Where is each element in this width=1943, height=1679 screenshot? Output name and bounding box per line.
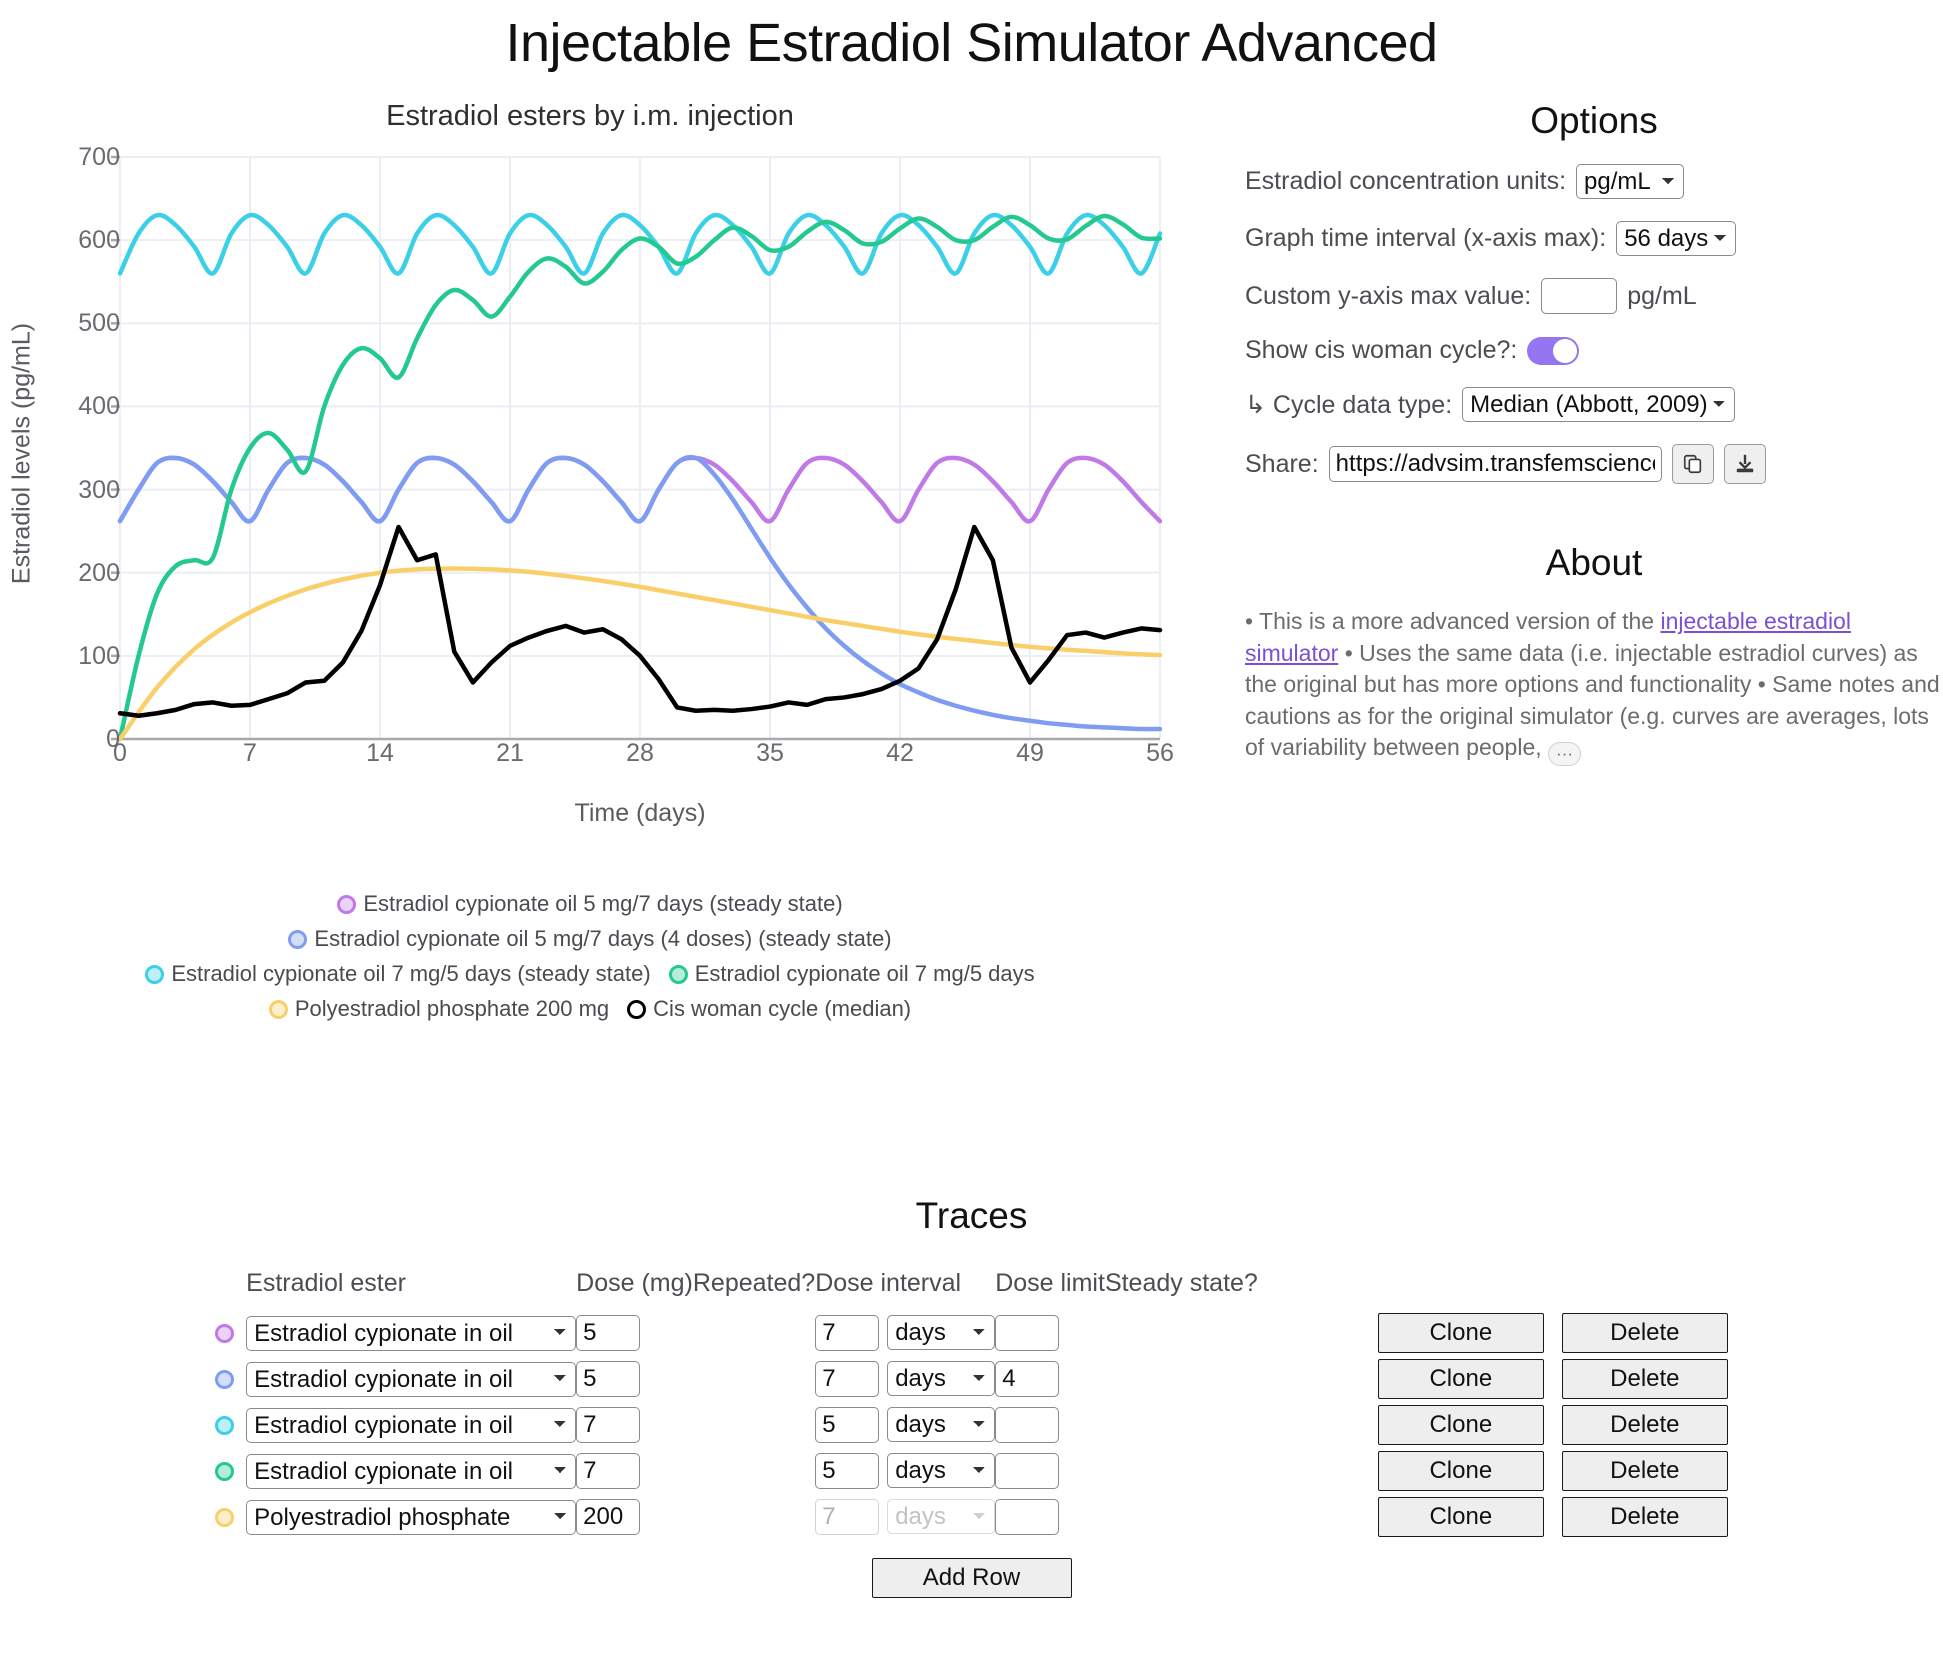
delete-cell: Delete (1544, 1494, 1728, 1540)
interval-cell: daysweeksmonths (815, 1356, 995, 1402)
th-dose: Dose (mg) (576, 1269, 693, 1310)
about-part2: • Uses the same data (i.e. injectable es… (1245, 640, 1940, 761)
legend-item[interactable]: Estradiol cypionate oil 7 mg/5 days (ste… (145, 961, 650, 987)
toggle-knob (667, 1335, 691, 1359)
y-tick-label: 400 (40, 392, 120, 421)
trace-color-swatch (215, 1324, 234, 1343)
limit-cell (995, 1494, 1105, 1540)
share-row: Share: (1245, 444, 1943, 484)
interval-select[interactable]: 7 days14 days28 days56 days84 days (1616, 221, 1736, 256)
interval-cell: daysweeksmonths (815, 1448, 995, 1494)
interval-row: Graph time interval (x-axis max): 7 days… (1245, 221, 1943, 256)
about-more-button[interactable]: ··· (1548, 742, 1581, 766)
cycle-type-select[interactable]: Median (Abbott, 2009)Mean (Stricker, 200… (1462, 387, 1735, 422)
about-part1: • This is a more advanced version of the (1245, 608, 1660, 634)
cycle-type-row: ↳ Cycle data type: Median (Abbott, 2009)… (1245, 387, 1943, 422)
traces-table: Estradiol ester Dose (mg) Repeated? Dose… (215, 1269, 1728, 1540)
delete-button[interactable]: Delete (1562, 1451, 1728, 1491)
ymax-row: Custom y-axis max value: pg/mL (1245, 278, 1943, 314)
th-actions (1258, 1269, 1544, 1310)
delete-button[interactable]: Delete (1562, 1405, 1728, 1445)
y-tick-label: 700 (40, 143, 120, 172)
toggle-knob (1079, 1335, 1103, 1359)
dose-limit-input[interactable] (995, 1315, 1059, 1351)
cycle-label: Show cis woman cycle?: (1245, 336, 1517, 365)
dose-limit-input[interactable] (995, 1453, 1059, 1489)
th-repeated: Repeated? (693, 1269, 815, 1310)
legend-marker-icon (337, 895, 356, 914)
delete-cell: Delete (1544, 1356, 1728, 1402)
interval-input[interactable] (815, 1499, 879, 1535)
legend-label: Estradiol cypionate oil 5 mg/7 days (4 d… (314, 926, 891, 952)
ester-select[interactable]: Estradiol cypionate in oilEstradiol vale… (246, 1408, 576, 1443)
trace-color-swatch (215, 1416, 234, 1435)
table-row: Estradiol cypionate in oilEstradiol vale… (215, 1494, 1728, 1540)
ester-cell: Estradiol cypionate in oilEstradiol vale… (246, 1448, 576, 1494)
toggle-knob (1107, 1519, 1131, 1543)
row-color-cell (215, 1402, 246, 1448)
interval-input[interactable] (815, 1315, 879, 1351)
copy-icon-button[interactable] (1672, 444, 1714, 484)
delete-button[interactable]: Delete (1562, 1497, 1728, 1537)
y-tick-label: 600 (40, 226, 120, 255)
x-tick-label: 28 (610, 739, 670, 768)
table-row: Estradiol cypionate in oilEstradiol vale… (215, 1356, 1728, 1402)
th-color (215, 1269, 246, 1310)
units-select[interactable]: pg/mLpmol/L (1576, 164, 1684, 199)
interval-unit-select[interactable]: daysweeksmonths (887, 1407, 995, 1442)
row-color-cell (215, 1356, 246, 1402)
cycle-type-label: ↳ Cycle data type: (1245, 390, 1452, 420)
interval-input[interactable] (815, 1407, 879, 1443)
copy-icon (1682, 453, 1704, 475)
interval-unit-select[interactable]: daysweeksmonths (887, 1361, 995, 1396)
legend-marker-icon (627, 1000, 646, 1019)
table-row: Estradiol cypionate in oilEstradiol vale… (215, 1402, 1728, 1448)
x-tick-label: 42 (870, 739, 930, 768)
clone-cell: Clone (1258, 1448, 1544, 1494)
legend-item[interactable]: Estradiol cypionate oil 5 mg/7 days (ste… (337, 891, 842, 917)
legend-row: Polyestradiol phosphate 200 mgCis woman … (0, 996, 1180, 1022)
y-tick-label: 500 (40, 309, 120, 338)
ester-cell: Estradiol cypionate in oilEstradiol vale… (246, 1310, 576, 1356)
th-steady: Steady state? (1105, 1269, 1258, 1310)
delete-button[interactable]: Delete (1562, 1313, 1728, 1353)
add-row-wrap: Add Row (0, 1558, 1943, 1598)
traces-heading: Traces (0, 1195, 1943, 1237)
interval-cell: daysweeksmonths (815, 1402, 995, 1448)
toggle-knob (1079, 1427, 1103, 1451)
options-column: Options Estradiol concentration units: p… (1245, 100, 1943, 766)
units-label: Estradiol concentration units: (1245, 167, 1566, 196)
ymax-label: Custom y-axis max value: (1245, 282, 1531, 311)
toggle-knob (1107, 1473, 1131, 1497)
ester-cell: Estradiol cypionate in oilEstradiol vale… (246, 1356, 576, 1402)
chart-svg (0, 139, 1180, 779)
y-tick-label: 300 (40, 476, 120, 505)
toggle-knob (667, 1427, 691, 1451)
row-color-cell (215, 1310, 246, 1356)
dose-limit-input[interactable] (995, 1361, 1059, 1397)
dose-cell (576, 1494, 693, 1540)
x-tick-label: 7 (220, 739, 280, 768)
dose-input[interactable] (576, 1407, 640, 1443)
table-row: Estradiol cypionate in oilEstradiol vale… (215, 1448, 1728, 1494)
clone-cell: Clone (1258, 1494, 1544, 1540)
ester-select[interactable]: Estradiol cypionate in oilEstradiol vale… (246, 1362, 576, 1397)
ester-select[interactable]: Estradiol cypionate in oilEstradiol vale… (246, 1454, 576, 1489)
chart-column: Estradiol esters by i.m. injection Estra… (0, 100, 1230, 1031)
about-body: • This is a more advanced version of the… (1245, 606, 1943, 766)
x-tick-label: 35 (740, 739, 800, 768)
dose-input[interactable] (576, 1453, 640, 1489)
interval-unit-select[interactable]: daysweeksmonths (887, 1453, 995, 1488)
repeated-cell (693, 1448, 815, 1494)
traces-section: Traces Estradiol ester Dose (mg) Repeate… (0, 1195, 1943, 1598)
steady-cell (1105, 1494, 1258, 1540)
clone-cell: Clone (1258, 1310, 1544, 1356)
dose-limit-input[interactable] (995, 1407, 1059, 1443)
chart-legend: Estradiol cypionate oil 5 mg/7 days (ste… (0, 891, 1180, 1022)
clone-button[interactable]: Clone (1378, 1405, 1544, 1445)
row-color-cell (215, 1448, 246, 1494)
th-limit: Dose limit (995, 1269, 1105, 1310)
traces-body: Estradiol cypionate in oilEstradiol vale… (215, 1310, 1728, 1540)
legend-row: Estradiol cypionate oil 5 mg/7 days (4 d… (0, 926, 1180, 952)
x-axis-label: Time (days) (120, 799, 1160, 828)
delete-cell: Delete (1544, 1310, 1728, 1356)
th-actions2 (1544, 1269, 1728, 1310)
ymax-input[interactable] (1541, 278, 1617, 314)
toggle-knob (1079, 1381, 1103, 1405)
limit-cell (995, 1448, 1105, 1494)
steady-cell (1105, 1448, 1258, 1494)
legend-marker-icon (269, 1000, 288, 1019)
legend-item[interactable]: Polyestradiol phosphate 200 mg (269, 996, 609, 1022)
interval-input[interactable] (815, 1361, 879, 1397)
about-heading: About (1245, 542, 1943, 584)
toggle-knob (1553, 339, 1577, 363)
share-label: Share: (1245, 450, 1319, 479)
dose-input[interactable] (576, 1361, 640, 1397)
ester-cell: Estradiol cypionate in oilEstradiol vale… (246, 1494, 576, 1540)
legend-label: Estradiol cypionate oil 5 mg/7 days (ste… (363, 891, 842, 917)
ymax-units-label: pg/mL (1627, 282, 1696, 311)
toggle-knob (667, 1473, 691, 1497)
ester-select[interactable]: Estradiol cypionate in oilEstradiol vale… (246, 1500, 576, 1535)
table-row: Estradiol cypionate in oilEstradiol vale… (215, 1310, 1728, 1356)
repeated-cell (693, 1494, 815, 1540)
download-icon-button[interactable] (1724, 444, 1766, 484)
legend-item[interactable]: Cis woman cycle (median) (627, 996, 911, 1022)
steady-cell (1105, 1356, 1258, 1402)
y-tick-label: 100 (40, 642, 120, 671)
chart-plot: Estradiol levels (pg/mL) Time (days) 010… (0, 139, 1180, 839)
legend-item[interactable]: Estradiol cypionate oil 7 mg/5 days (669, 961, 1035, 987)
x-tick-label: 49 (1000, 739, 1060, 768)
trace-color-swatch (215, 1370, 234, 1389)
clone-button[interactable]: Clone (1378, 1359, 1544, 1399)
x-tick-label: 56 (1130, 739, 1190, 768)
clone-button[interactable]: Clone (1378, 1451, 1544, 1491)
clone-cell: Clone (1258, 1402, 1544, 1448)
add-row-button[interactable]: Add Row (872, 1558, 1072, 1598)
legend-marker-icon (669, 965, 688, 984)
dose-input[interactable] (576, 1315, 640, 1351)
steady-cell (1105, 1310, 1258, 1356)
page-title: Injectable Estradiol Simulator Advanced (0, 0, 1943, 74)
legend-row: Estradiol cypionate oil 5 mg/7 days (ste… (0, 891, 1180, 917)
legend-label: Polyestradiol phosphate 200 mg (295, 996, 609, 1022)
interval-unit-select[interactable]: daysweeksmonths (887, 1315, 995, 1350)
repeated-cell (693, 1356, 815, 1402)
x-tick-label: 0 (90, 739, 150, 768)
chart-title: Estradiol esters by i.m. injection (0, 100, 1180, 133)
ester-select[interactable]: Estradiol cypionate in oilEstradiol vale… (246, 1316, 576, 1351)
legend-marker-icon (288, 930, 307, 949)
trace-color-swatch (215, 1508, 234, 1527)
traces-header-row: Estradiol ester Dose (mg) Repeated? Dose… (215, 1269, 1728, 1310)
dose-input[interactable] (576, 1499, 640, 1535)
app-root: Injectable Estradiol Simulator Advanced … (0, 0, 1943, 1679)
x-tick-label: 21 (480, 739, 540, 768)
interval-label: Graph time interval (x-axis max): (1245, 224, 1606, 253)
delete-button[interactable]: Delete (1562, 1359, 1728, 1399)
legend-label: Estradiol cypionate oil 7 mg/5 days (ste… (171, 961, 650, 987)
delete-cell: Delete (1544, 1448, 1728, 1494)
cycle-toggle[interactable] (1527, 337, 1579, 365)
x-tick-label: 14 (350, 739, 410, 768)
options-heading: Options (1245, 100, 1943, 142)
repeated-cell (693, 1310, 815, 1356)
delete-cell: Delete (1544, 1402, 1728, 1448)
row-color-cell (215, 1494, 246, 1540)
legend-label: Cis woman cycle (median) (653, 996, 911, 1022)
th-interval: Dose interval (815, 1269, 995, 1310)
th-ester: Estradiol ester (246, 1269, 576, 1310)
trace-color-swatch (215, 1462, 234, 1481)
clone-button[interactable]: Clone (1378, 1313, 1544, 1353)
clone-cell: Clone (1258, 1356, 1544, 1402)
units-row: Estradiol concentration units: pg/mLpmol… (1245, 164, 1943, 199)
interval-cell: daysweeksmonths (815, 1310, 995, 1356)
toggle-knob (667, 1381, 691, 1405)
legend-item[interactable]: Estradiol cypionate oil 5 mg/7 days (4 d… (288, 926, 891, 952)
steady-cell (1105, 1402, 1258, 1448)
interval-cell: daysweeksmonths (815, 1494, 995, 1540)
legend-row: Estradiol cypionate oil 7 mg/5 days (ste… (0, 961, 1180, 987)
legend-marker-icon (145, 965, 164, 984)
legend-label: Estradiol cypionate oil 7 mg/5 days (695, 961, 1035, 987)
dose-limit-input[interactable] (995, 1499, 1059, 1535)
cycle-toggle-row: Show cis woman cycle?: (1245, 336, 1943, 365)
interval-input[interactable] (815, 1453, 879, 1489)
clone-button[interactable]: Clone (1378, 1497, 1544, 1537)
ester-cell: Estradiol cypionate in oilEstradiol vale… (246, 1402, 576, 1448)
y-tick-label: 200 (40, 559, 120, 588)
interval-unit-select[interactable]: daysweeksmonths (887, 1499, 995, 1534)
repeated-cell (693, 1402, 815, 1448)
share-input[interactable] (1329, 446, 1662, 482)
toggle-knob (695, 1519, 719, 1543)
download-icon (1734, 453, 1756, 475)
